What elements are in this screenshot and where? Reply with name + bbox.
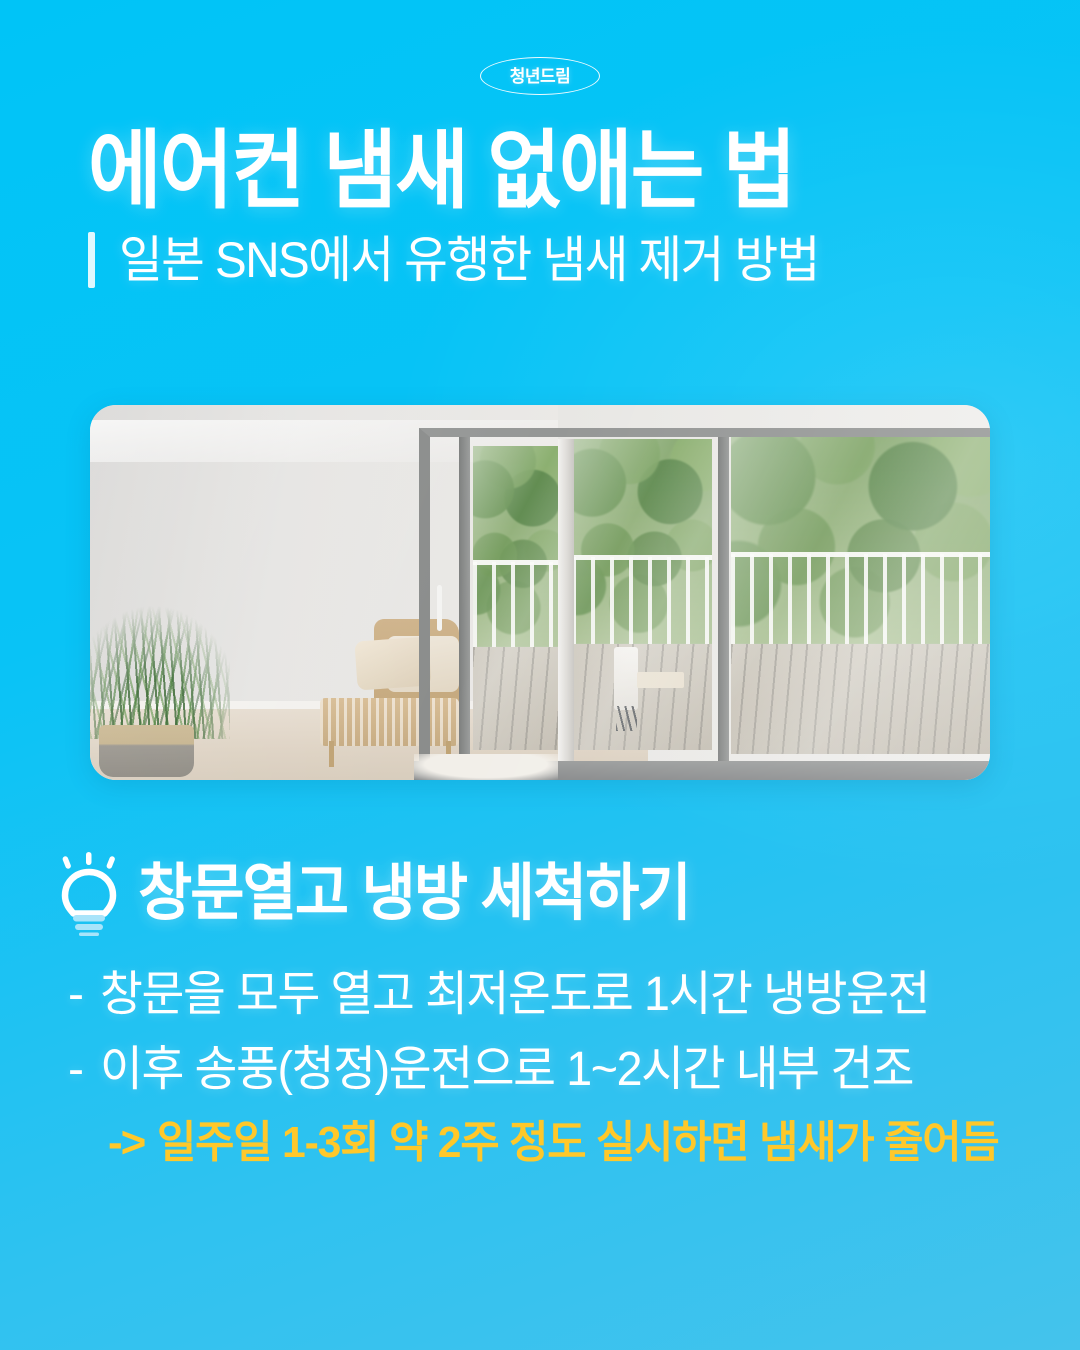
sliding-door-frame <box>419 428 991 781</box>
conclusion-text: 일주일 1-3회 약 2주 정도 실시하면 냄새가 줄어듬 <box>157 1117 998 1170</box>
tip-section: 창문열고 냉방 세척하기 - 창문을 모두 열고 최저온도로 1시간 냉방운전 … <box>0 852 1080 1170</box>
bullet-text: 이후 송풍(청정)운전으로 1~2시간 내부 건조 <box>100 1041 913 1100</box>
subtitle-row: 일본 SNS에서 유행한 냄새 제거 방법 <box>88 232 992 288</box>
page-title: 에어컨 냄새 없애는 법 <box>88 128 929 214</box>
page-subtitle: 일본 SNS에서 유행한 냄새 제거 방법 <box>119 234 819 287</box>
infographic-card: 청년드림 에어컨 냄새 없애는 법 일본 SNS에서 유행한 냄새 제거 방법 <box>0 0 1080 1350</box>
conclusion-row: -> 일주일 1-3회 약 2주 정도 실시하면 냄새가 줄어듬 <box>58 1117 1022 1170</box>
tip-heading-row: 창문열고 냉방 세척하기 <box>58 852 1022 936</box>
tip-heading: 창문열고 냉방 세척하기 <box>138 863 690 925</box>
list-item: - 창문을 모두 열고 최저온도로 1시간 냉방운전 <box>68 966 1022 1025</box>
photo-scene <box>90 405 990 780</box>
interior-room-photo <box>90 405 990 780</box>
chair-leg <box>329 741 334 767</box>
bullet-marker: - <box>68 966 84 1025</box>
plant-foliage <box>90 559 230 739</box>
plant-basket <box>99 725 194 778</box>
floor-rug <box>414 754 558 780</box>
door-handle <box>437 585 442 631</box>
bullet-marker: - <box>68 1041 84 1100</box>
arrow-right-icon: -> <box>108 1117 144 1170</box>
brand-badge-label: 청년드림 <box>510 68 571 85</box>
bullet-text: 창문을 모두 열고 최저온도로 1시간 냉방운전 <box>100 966 929 1025</box>
header: 에어컨 냄새 없애는 법 일본 SNS에서 유행한 냄새 제거 방법 <box>0 128 1080 288</box>
lightbulb-icon <box>58 852 120 936</box>
subtitle-accent-bar <box>88 232 95 288</box>
brand-badge: 청년드림 <box>480 57 600 95</box>
list-item: - 이후 송풍(청정)운전으로 1~2시간 내부 건조 <box>68 1041 1022 1100</box>
tip-bullet-list: - 창문을 모두 열고 최저온도로 1시간 냉방운전 - 이후 송풍(청정)운전… <box>58 966 1022 1099</box>
